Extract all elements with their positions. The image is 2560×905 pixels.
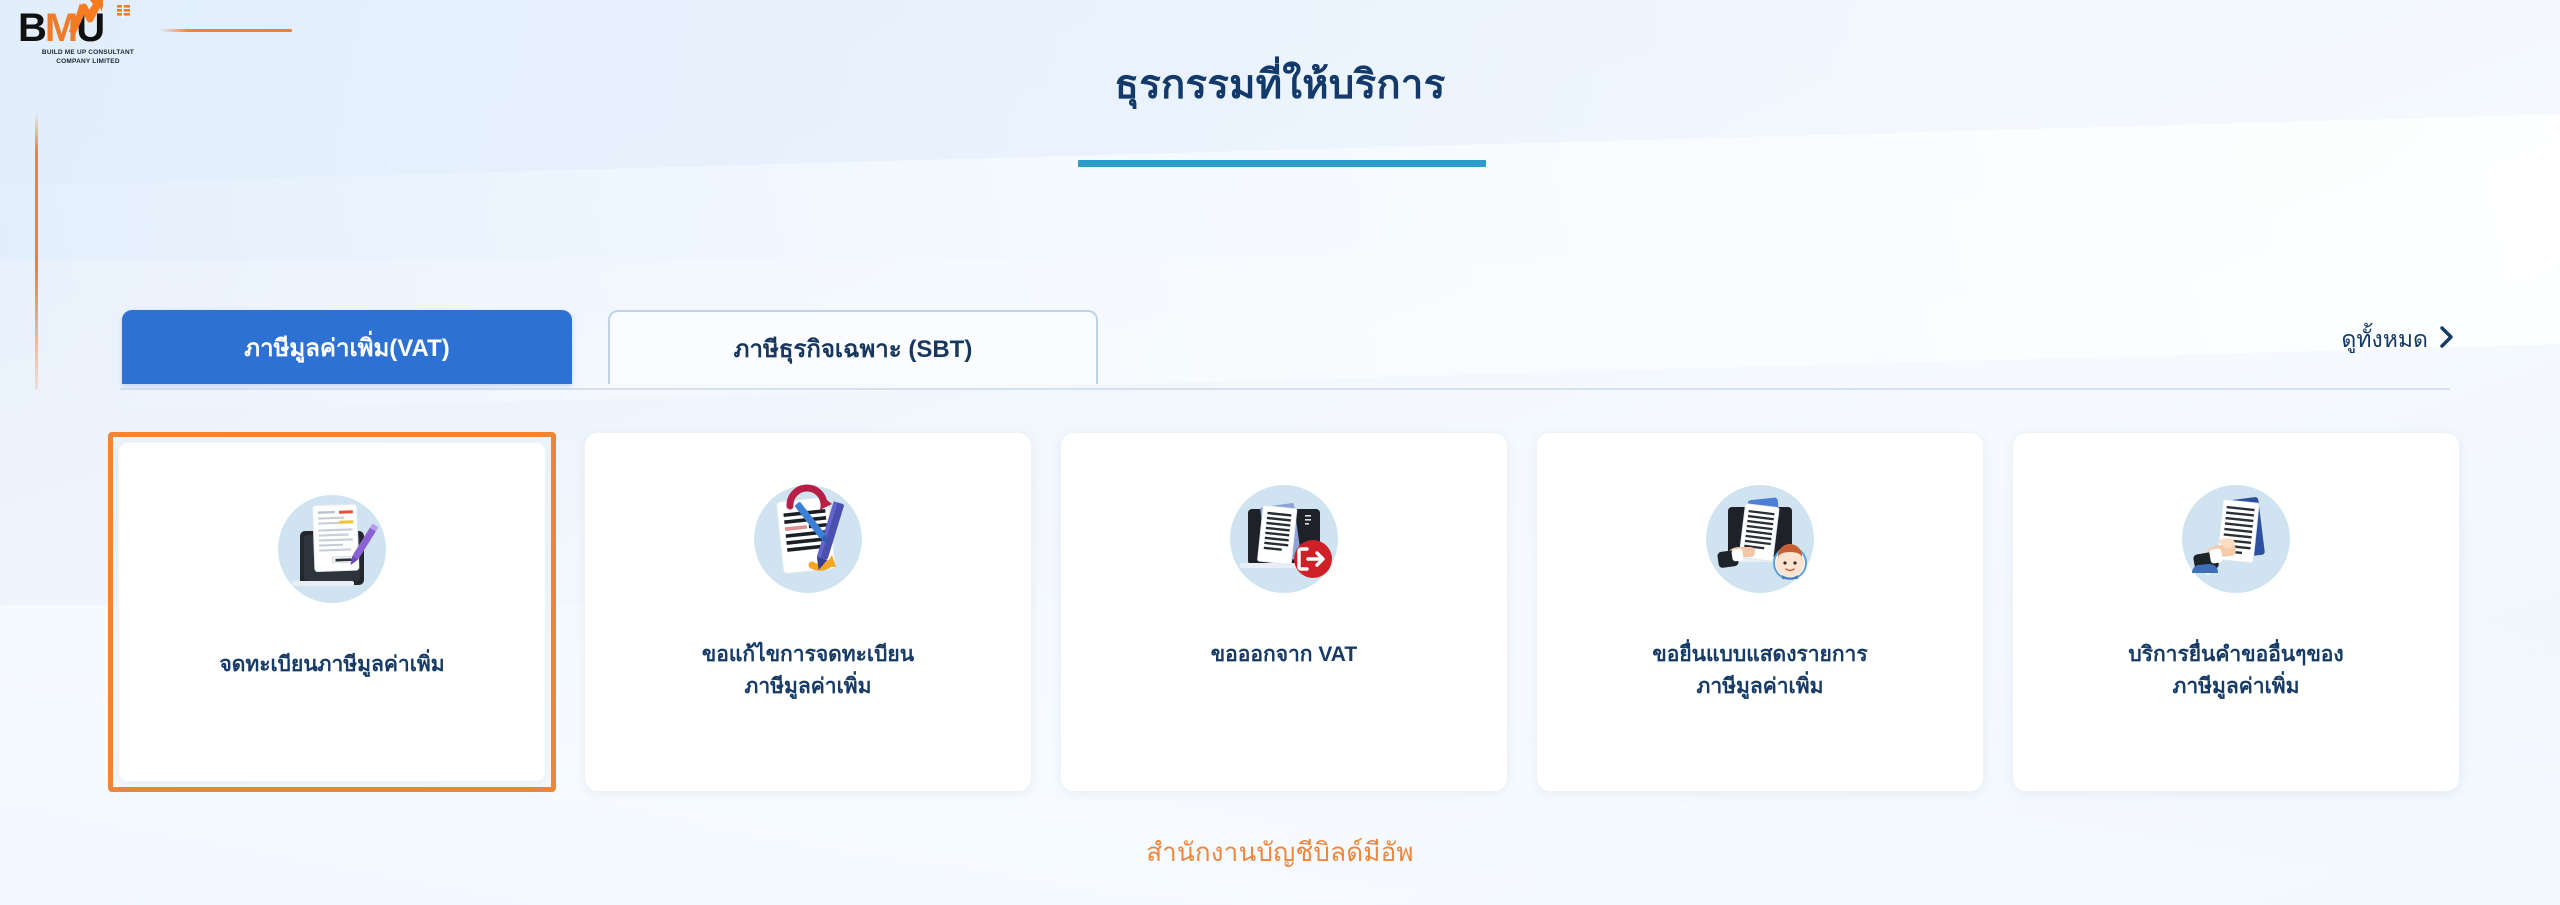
logo-flag-icon: [116, 4, 132, 20]
footer-company-name: สำนักงานบัญชีบิลด์มีอัพ: [0, 832, 2560, 873]
service-card-vat-registration[interactable]: จดทะเบียนภาษีมูลค่าเพิ่ม: [118, 442, 546, 782]
chevron-right-icon: [2440, 326, 2454, 352]
see-all-label: ดูทั้งหมด: [2341, 322, 2428, 358]
service-card-vat-exit[interactable]: ขอออกจาก VAT: [1060, 432, 1508, 792]
page-title-underline: [1078, 160, 1486, 167]
card-slot-4: ขอยื่นแบบแสดงรายการ ภาษีมูลค่าเพิ่ม: [1536, 432, 1984, 792]
service-card-vat-filing[interactable]: ขอยื่นแบบแสดงรายการ ภาษีมูลค่าเพิ่ม: [1536, 432, 1984, 792]
card-slot-1: จดทะเบียนภาษีมูลค่าเพิ่ม: [108, 432, 556, 792]
document-tablet-signing-icon: [270, 489, 394, 613]
card-slot-3: ขอออกจาก VAT: [1060, 432, 1508, 792]
card-label: จดทะเบียนภาษีมูลค่าเพิ่ม: [203, 649, 460, 681]
service-card-vat-other-requests[interactable]: บริการยื่นคำขออื่นๆของ ภาษีมูลค่าเพิ่ม: [2012, 432, 2460, 792]
service-card-grid: จดทะเบียนภาษีมูลค่าเพิ่ม: [108, 432, 2460, 792]
logo-accent-rule: [160, 29, 292, 32]
logo-letter-b: B: [18, 6, 45, 50]
tabs-baseline: [120, 388, 2450, 390]
tabs-row: ภาษีมูลค่าเพิ่ม(VAT) ภาษีธุรกิจเฉพาะ (SB…: [0, 310, 2560, 388]
card-label: ขอยื่นแบบแสดงรายการ ภาษีมูลค่าเพิ่ม: [1636, 639, 1883, 703]
logo-mark: BMU BUILD ME UP CONSULTANT COMPANY LIMIT…: [18, 8, 158, 48]
card-label: ขอแก้ไขการจดทะเบียน ภาษีมูลค่าเพิ่ม: [686, 639, 930, 703]
tab-sbt[interactable]: ภาษีธุรกิจเฉพาะ (SBT): [608, 310, 1098, 384]
page-title: ธุรกรรมที่ให้บริการ: [0, 52, 2560, 116]
card-slot-5: บริการยื่นคำขออื่นๆของ ภาษีมูลค่าเพิ่ม: [2012, 432, 2460, 792]
see-all-link[interactable]: ดูทั้งหมด: [2341, 322, 2454, 358]
growth-arrow-icon: [69, 0, 103, 34]
hand-document-agent-icon: [1698, 479, 1822, 603]
tab-vat[interactable]: ภาษีมูลค่าเพิ่ม(VAT): [122, 310, 572, 384]
card-label: ขอออกจาก VAT: [1195, 639, 1373, 671]
background-band-top: [0, 0, 2560, 260]
hand-document-icon: [2174, 479, 2298, 603]
document-exit-icon: [1222, 479, 1346, 603]
card-slot-2: ขอแก้ไขการจดทะเบียน ภาษีมูลค่าเพิ่ม: [584, 432, 1032, 792]
document-edit-pen-icon: [746, 479, 870, 603]
service-card-vat-amend-registration[interactable]: ขอแก้ไขการจดทะเบียน ภาษีมูลค่าเพิ่ม: [584, 432, 1032, 792]
card-label: บริการยื่นคำขออื่นๆของ ภาษีมูลค่าเพิ่ม: [2112, 639, 2359, 703]
